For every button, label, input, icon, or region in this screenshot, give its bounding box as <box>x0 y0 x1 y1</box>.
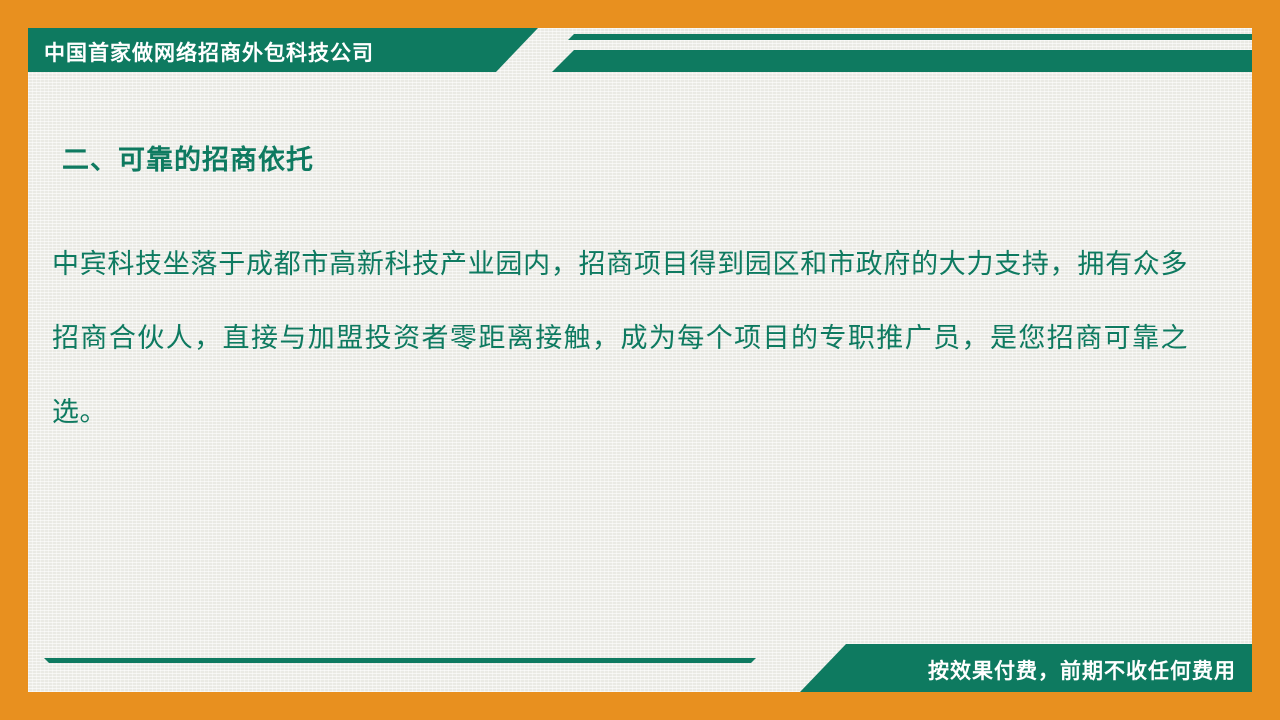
slide-footer: 按效果付费，前期不收任何费用 <box>28 644 1252 692</box>
section-paragraph: 中宾科技坐落于成都市高新科技产业园内，招商项目得到园区和市政府的大力支持，拥有众… <box>52 228 1188 450</box>
footer-green-banner: 按效果付费，前期不收任何费用 <box>800 644 1252 692</box>
presentation-slide: 中国首家做网络招商外包科技公司 二、可靠的招商依托 中宾科技坐落于成都市高新科技… <box>0 0 1280 720</box>
section-title: 二、可靠的招商依托 <box>62 138 314 177</box>
header-accent-stripe-top <box>568 34 1252 40</box>
header-title: 中国首家做网络招商外包科技公司 <box>44 37 374 67</box>
header-accent-stripe-bottom <box>552 50 1252 72</box>
slide-header: 中国首家做网络招商外包科技公司 <box>28 28 1252 72</box>
footer-accent-stripe <box>44 658 756 663</box>
footer-text: 按效果付费，前期不收任何费用 <box>928 655 1236 685</box>
